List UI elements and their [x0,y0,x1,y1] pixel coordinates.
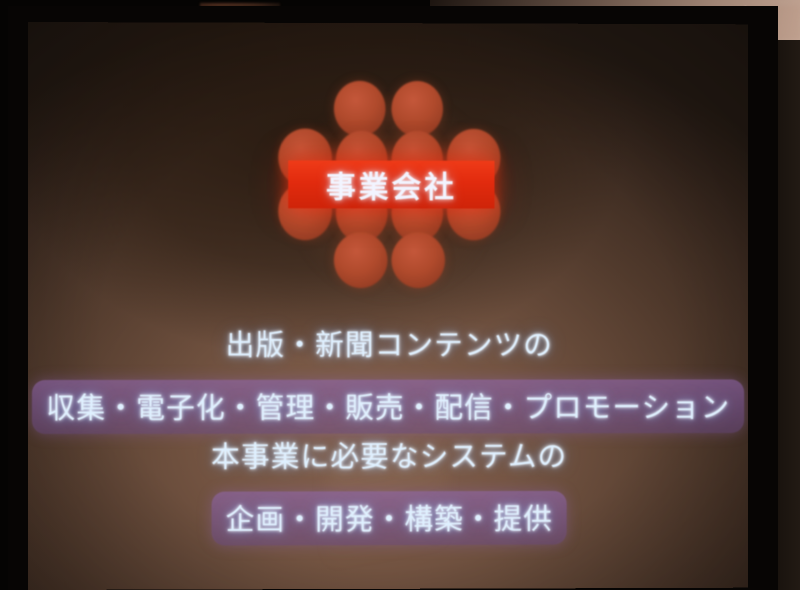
logo-label-box: 事業会社 [288,160,494,208]
slide-line-1: 出版・新聞コンテンツの [28,322,748,364]
logo-dot [334,232,388,288]
slide-line-2-highlight: 収集・電子化・管理・販売・配信・プロモーション [32,379,744,434]
company-logo: 事業会社 [272,75,510,289]
logo-dot [391,81,443,137]
slide-line-4-row: 企画・開発・構築・提供 [28,490,748,546]
presentation-slide: 事業会社 出版・新聞コンテンツの 収集・電子化・管理・販売・配信・プロモーション… [28,22,748,590]
logo-dot [334,81,386,137]
slide-text-block: 出版・新聞コンテンツの 収集・電子化・管理・販売・配信・プロモーション 本事業に… [28,322,748,546]
projection-screen-surface: 事業会社 出版・新聞コンテンツの 収集・電子化・管理・販売・配信・プロモーション… [28,22,748,590]
slide-line-4-highlight: 企画・開発・構築・提供 [212,491,567,546]
slide-line-3: 本事業に必要なシステムの [28,433,748,476]
logo-label-text: 事業会社 [326,162,457,206]
photo-frame: 事業会社 出版・新聞コンテンツの 収集・電子化・管理・販売・配信・プロモーション… [0,0,800,590]
slide-line-2-row: 収集・電子化・管理・販売・配信・プロモーション [28,379,748,434]
logo-dot [391,232,445,288]
